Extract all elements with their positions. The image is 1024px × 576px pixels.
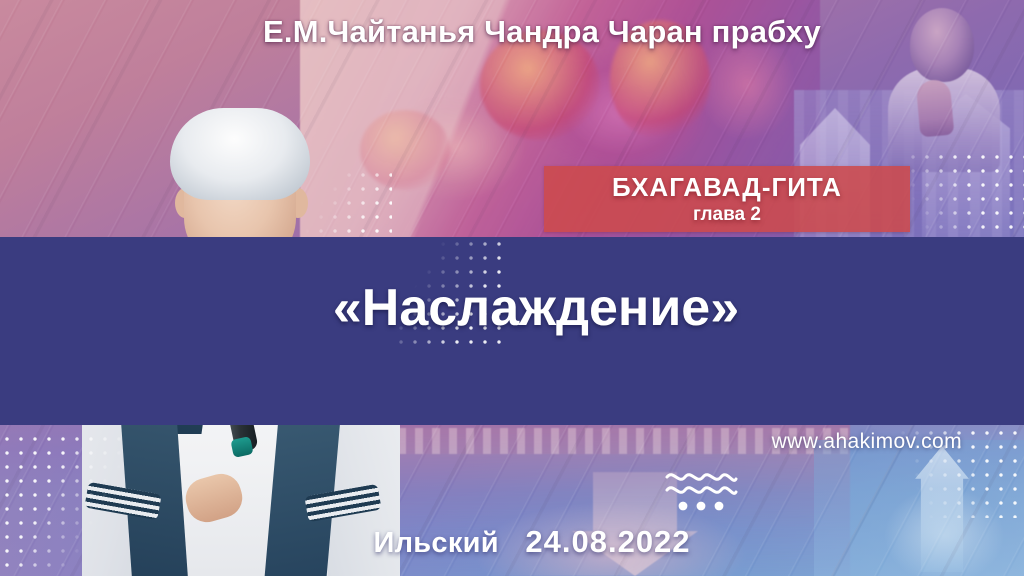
website-url[interactable]: www.ahakimov.com: [772, 430, 962, 454]
lecture-slide: Е.М.Чайтанья Чандра Чаран прабху БХАГАВА…: [0, 0, 1024, 576]
speaker-name-title: Е.М.Чайтанья Чандра Чаран прабху: [0, 14, 1024, 50]
footer: Ильский 24.08.2022: [0, 524, 1024, 560]
hair: [170, 108, 310, 200]
scripture-banner: БХАГАВАД-ГИТА глава 2: [544, 166, 910, 232]
wave-dots-logo-icon: [664, 468, 738, 512]
scripture-chapter-label: глава 2: [693, 205, 761, 224]
city-label: Ильский: [373, 527, 499, 559]
date-label: 24.08.2022: [525, 524, 690, 559]
scripture-book-label: БХАГАВАД-ГИТА: [612, 174, 842, 200]
lecture-title: «Наслаждение»: [0, 278, 1024, 338]
